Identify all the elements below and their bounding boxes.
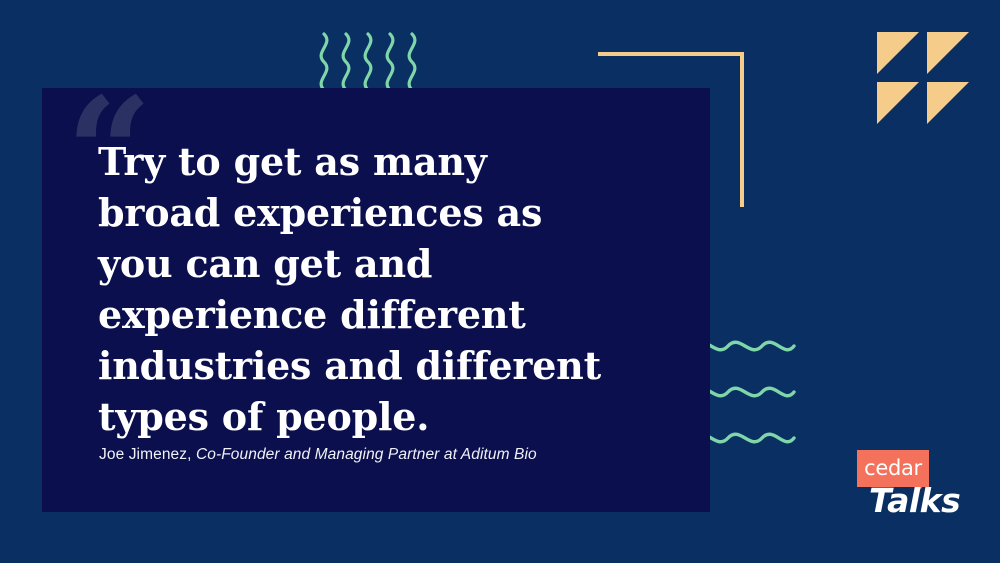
program-name: Talks	[869, 481, 960, 520]
attribution-role: Co-Founder and Managing Partner at Aditu…	[196, 446, 537, 463]
triangle-mark-icon	[877, 32, 969, 124]
quote-card: “ Try to get as many broad experiences a…	[42, 88, 710, 512]
attribution-name: Joe Jimenez,	[99, 446, 192, 463]
cedar-talks-logo: cedar Talks	[853, 447, 963, 525]
attribution: Joe Jimenez, Co-Founder and Managing Par…	[99, 446, 537, 464]
quote-text: Try to get as many broad experiences as …	[98, 136, 618, 442]
quote-slide: “ Try to get as many broad experiences a…	[0, 0, 1000, 563]
